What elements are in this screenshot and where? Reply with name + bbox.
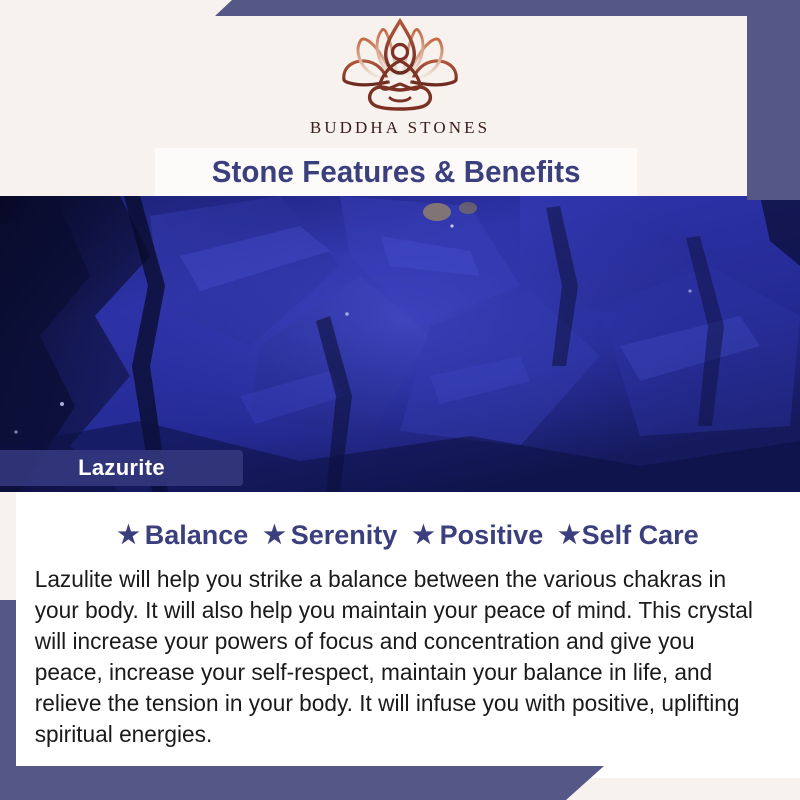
keyword-positive: ★ Positive (412, 520, 543, 551)
lotus-meditation-logo-icon (334, 18, 466, 112)
stone-texture-image (0, 196, 800, 492)
keyword-balance: ★ Balance (117, 520, 248, 551)
title-band: Stone Features & Benefits (155, 148, 637, 196)
star-icon: ★ (263, 523, 285, 548)
keyword-label: Serenity (291, 520, 398, 551)
decorative-right-band (747, 0, 800, 200)
stone-name: Lazurite (78, 455, 165, 481)
keyword-label: Self Care (582, 520, 699, 551)
page-title: Stone Features & Benefits (212, 154, 581, 190)
keyword-list: ★ Balance ★ Serenity ★ Positive ★ Self C… (16, 520, 800, 551)
infographic-card: BUDDHA STONES Stone Features & Benefits (0, 0, 800, 800)
stone-name-banner: Lazurite (0, 450, 243, 486)
star-icon: ★ (117, 523, 139, 548)
star-icon: ★ (412, 523, 434, 548)
keyword-label: Balance (145, 520, 249, 551)
brand-logo: BUDDHA STONES (0, 18, 800, 138)
stone-photo (0, 196, 800, 492)
keyword-self-care: ★ Self Care (558, 520, 698, 551)
keyword-serenity: ★ Serenity (263, 520, 397, 551)
stone-description: Lazulite will help you strike a balance … (16, 564, 788, 750)
star-icon: ★ (558, 523, 580, 548)
content-panel: ★ Balance ★ Serenity ★ Positive ★ Self C… (16, 492, 800, 778)
keyword-label: Positive (440, 520, 544, 551)
brand-name: BUDDHA STONES (310, 118, 490, 138)
